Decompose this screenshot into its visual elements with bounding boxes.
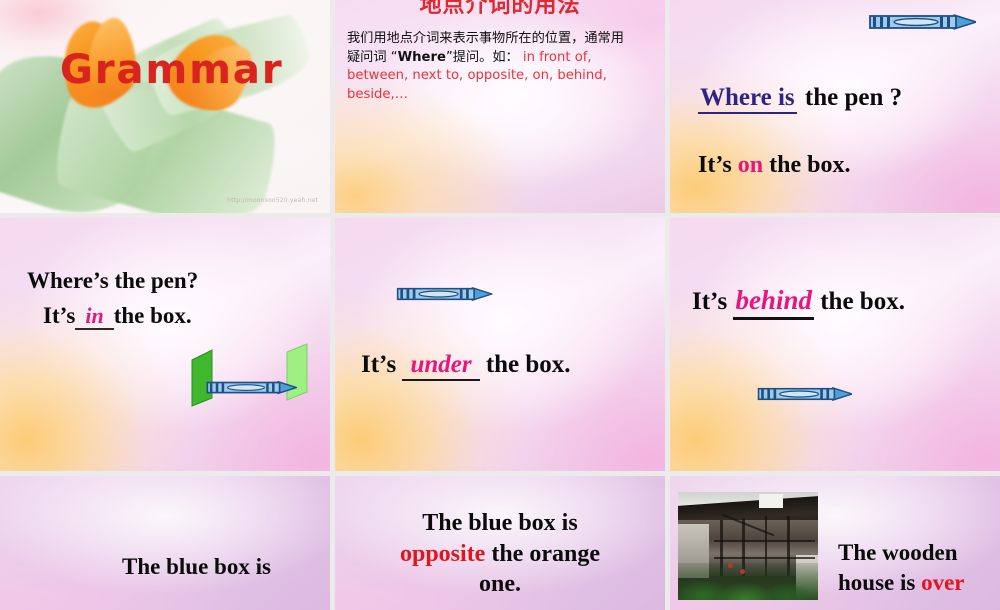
green-panels-with-crayon: [190, 342, 315, 408]
quote-open: “: [391, 50, 398, 65]
answer-lead: It’s: [698, 152, 732, 178]
preposition-highlight: on: [738, 152, 763, 178]
wooden-house-photo: [678, 492, 818, 600]
preposition-list-1: in front of,: [523, 50, 592, 65]
quote-close: ”: [446, 50, 453, 65]
slide-where-is-on[interactable]: Where is the pen ? It’s on the box.: [670, 0, 1000, 213]
page-title: Grammar: [60, 47, 284, 93]
chinese-title: 地点介词的用法: [335, 0, 665, 19]
blank-answer-under: under: [402, 351, 479, 381]
answer-lead: It’s: [361, 351, 396, 378]
slide-behind[interactable]: [670, 218, 1000, 471]
question-rest: the pen ?: [805, 84, 902, 111]
cn-line-3: 提问。如：: [453, 50, 519, 65]
photo-red-accent: [740, 569, 745, 574]
answer-lead: It’s: [692, 288, 727, 315]
slide-wooden-house-text: The wooden house is over: [838, 538, 965, 598]
where-keyword: Where: [398, 50, 446, 65]
slide-behind-answer: It’s behind the box.: [692, 285, 905, 316]
answer-rest: the box.: [820, 288, 905, 315]
opposite-line-3: one.: [479, 571, 521, 597]
opposite-line-1: The blue box is: [422, 510, 577, 536]
watermark-url: http://moonsoo520.yeah.net: [227, 197, 318, 204]
cn-line-2: 疑问词: [347, 50, 387, 65]
blank-answer-behind: behind: [733, 285, 814, 320]
photo-beam: [714, 557, 815, 560]
preposition-list-2: between, next to, opposite, on, behind,: [347, 68, 607, 83]
preposition-list-3: beside,…: [347, 87, 408, 102]
slide-background: [670, 218, 1000, 471]
slide-chinese-explanation[interactable]: 地点介词的用法 我们用地点介词来表示事物所在的位置，通常用 疑问词 “Where…: [335, 0, 665, 213]
opposite-line-2-rest: the orange: [491, 541, 600, 567]
slide-title[interactable]: Grammar http://moonsoo520.yeah.net: [0, 0, 330, 213]
opposite-highlight: opposite: [400, 541, 485, 567]
question-line: Where is the pen ?: [698, 84, 902, 112]
answer-rest: the box.: [769, 152, 850, 178]
blue-crayon-icon: [393, 286, 493, 302]
house-line-2-lead: house is: [838, 570, 915, 595]
answer-lead: It’s: [43, 303, 75, 328]
photo-foliage: [678, 563, 818, 600]
slide-background: [335, 218, 665, 471]
over-highlight: over: [921, 570, 964, 595]
blue-crayon-icon: [866, 13, 976, 31]
chinese-body: 我们用地点介词来表示事物所在的位置，通常用 疑问词 “Where”提问。如： i…: [347, 30, 656, 105]
slide-under[interactable]: [335, 218, 665, 471]
answer-rest: the box.: [114, 303, 192, 328]
photo-beam: [714, 540, 815, 543]
answer-line: It’s on the box.: [698, 152, 850, 179]
slide-in-question: Where’s the pen?: [27, 268, 198, 294]
where-is-highlight: Where is: [698, 84, 797, 114]
slide-in-answer: It’sinthe box.: [43, 303, 192, 329]
photo-white-patch: [759, 494, 783, 508]
cn-line-1: 我们用地点介词来表示事物所在的位置，通常用: [347, 31, 624, 46]
blank-answer-in: in: [75, 303, 113, 330]
slide-under-answer: It’s under the box.: [361, 351, 571, 379]
house-line-1: The wooden: [838, 540, 958, 565]
answer-rest: the box.: [486, 351, 571, 378]
blue-crayon-icon: [755, 386, 852, 402]
